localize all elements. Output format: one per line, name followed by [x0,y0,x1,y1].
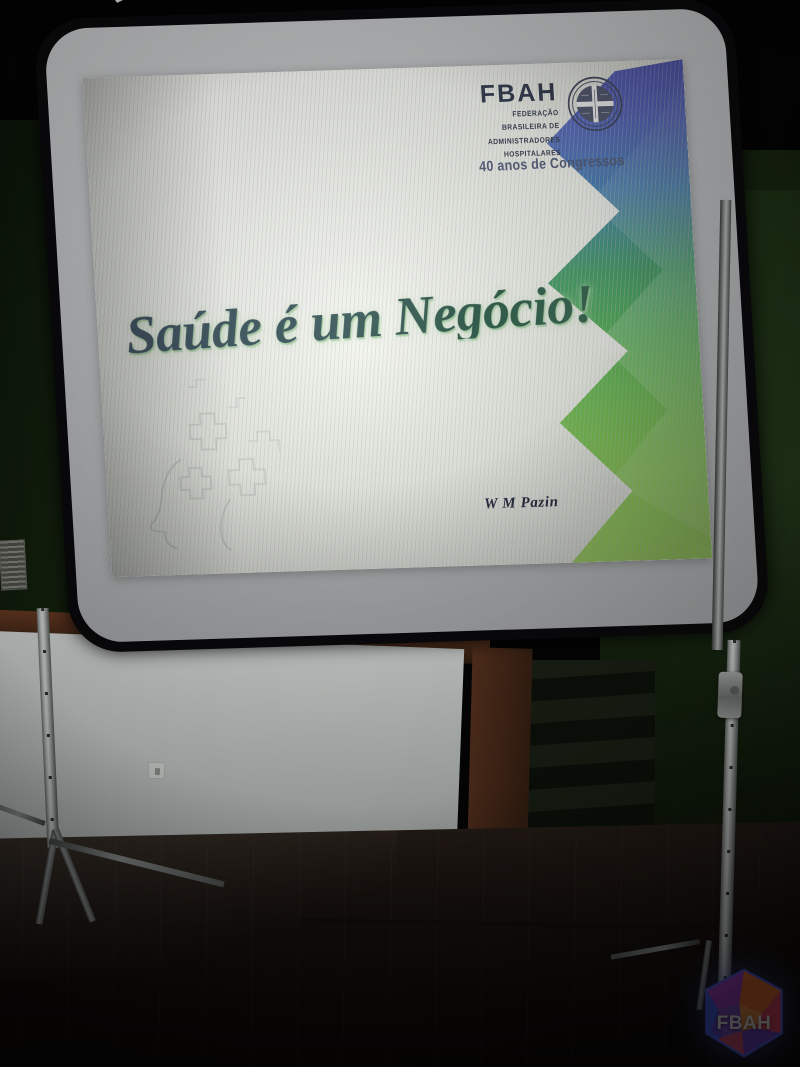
fbah-polygon-logo-icon [698,967,790,1059]
photo-scene: FBAH FEDERAÇÃO BRASILEIRA DE ADMINISTRAD… [0,0,800,1067]
org-name-line-1: FEDERAÇÃO [486,108,559,121]
slide-header: FBAH FEDERAÇÃO BRASILEIRA DE ADMINISTRAD… [361,75,626,165]
wall-outlet [148,762,166,780]
org-name-line-3: ADMINISTRADORES [488,135,561,148]
projection-screen-assembly: FBAH FEDERAÇÃO BRASILEIRA DE ADMINISTRAD… [33,0,771,658]
clamp-screw [730,686,739,695]
org-text-block: FBAH FEDERAÇÃO BRASILEIRA DE ADMINISTRAD… [474,77,561,161]
wooden-post-right [467,647,532,849]
svg-text:hospitalares: hospitalares [581,101,610,107]
floor-reflection [0,830,400,979]
org-acronym: FBAH [474,80,558,108]
wall-vent [0,539,27,590]
presentation-slide: FBAH FEDERAÇÃO BRASILEIRA DE ADMINISTRAD… [83,59,713,577]
org-name-line-2: BRASILEIRA DE [487,122,560,135]
fbah-badge-overlay[interactable]: FBAH [698,967,790,1059]
projection-surface: FBAH FEDERAÇÃO BRASILEIRA DE ADMINISTRAD… [83,59,713,577]
author-name: W M Pazin [484,494,559,513]
height-adjust-clamp [717,672,743,719]
face-and-crosses-watermark-icon [136,369,327,554]
fbah-seal-icon: hospitalares [565,75,624,133]
